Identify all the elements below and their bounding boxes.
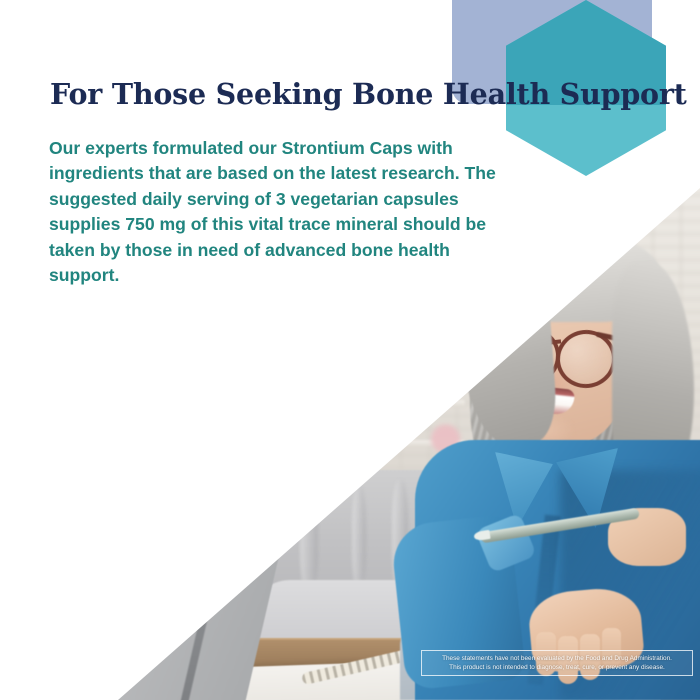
fda-disclaimer: These statements have not been evaluated… (421, 650, 693, 676)
body-paragraph: Our experts formulated our Strontium Cap… (49, 136, 519, 289)
marketing-banner: For Those Seeking Bone Health Support Ou… (0, 0, 700, 700)
disclaimer-line-1: These statements have not been evaluated… (426, 654, 688, 663)
sofa-fold (352, 486, 366, 590)
disclaimer-line-2: This product is not intended to diagnose… (426, 663, 688, 672)
page-title: For Those Seeking Bone Health Support (50, 77, 650, 111)
